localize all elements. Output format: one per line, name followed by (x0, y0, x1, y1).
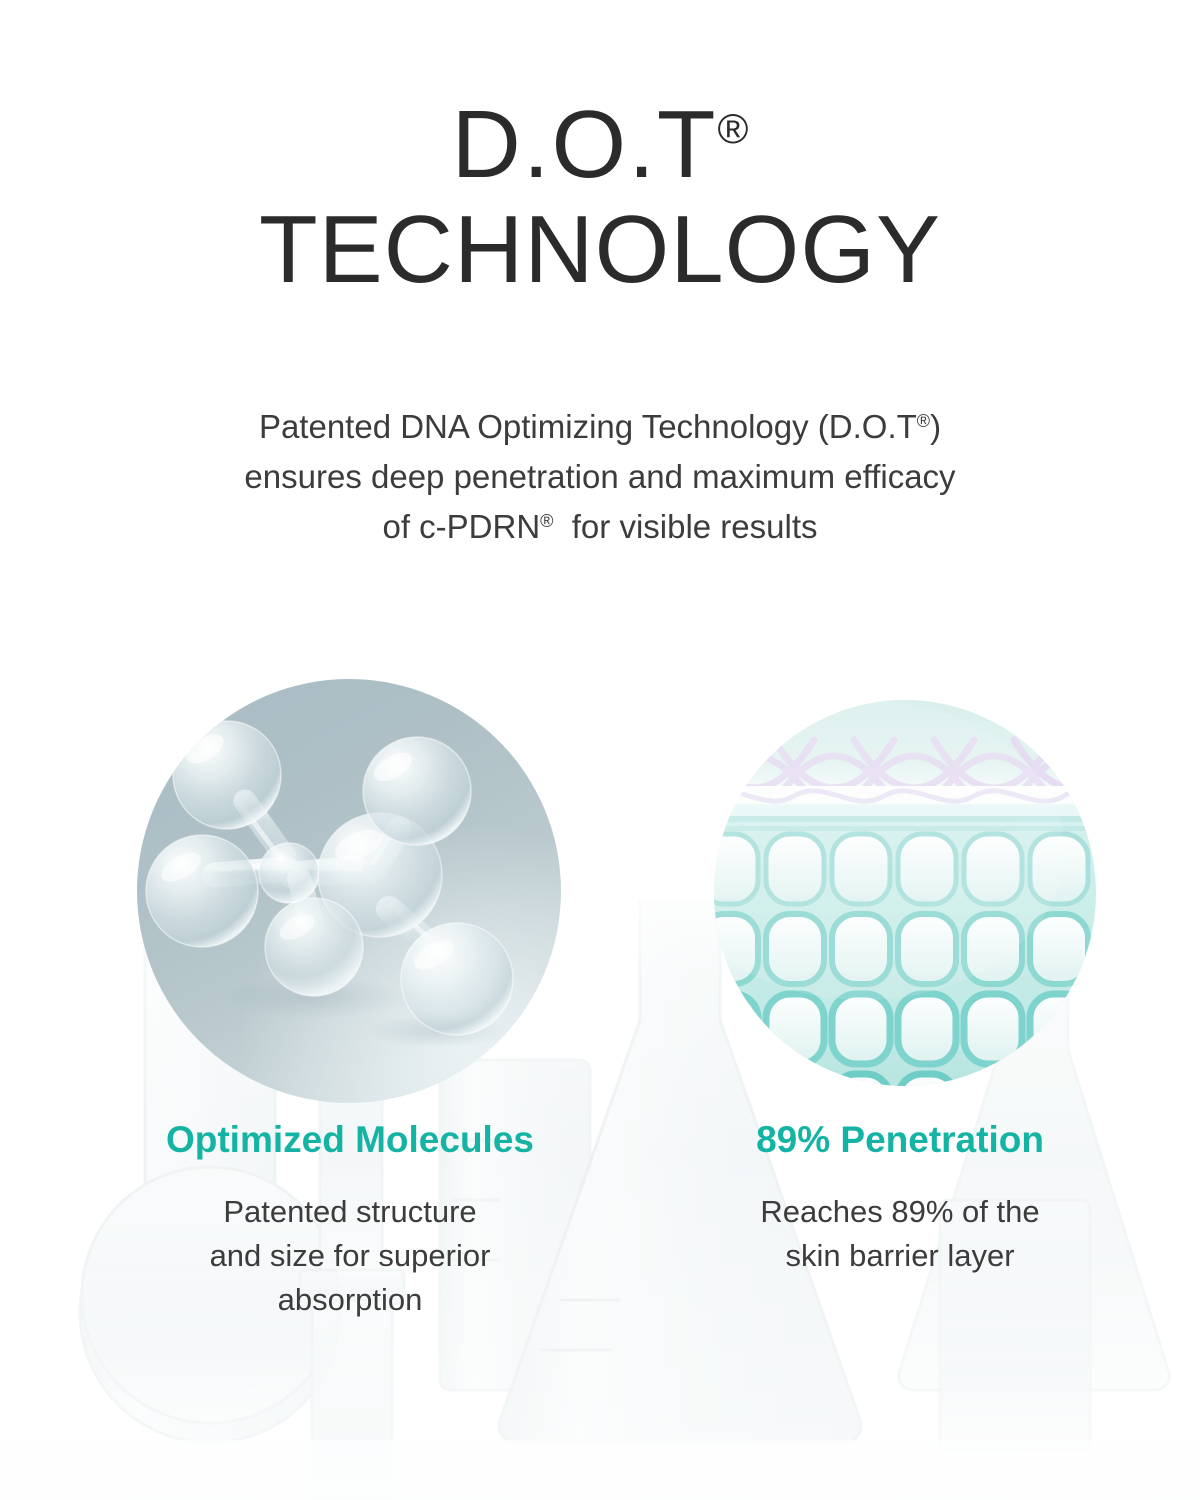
feature-caption-optimized-molecules: Optimized Molecules Patented structure a… (60, 1118, 640, 1322)
dot-technology-infographic: D.O.T® TECHNOLOGY Patented DNA Optimizin… (0, 0, 1200, 1500)
page-title: D.O.T® TECHNOLOGY (0, 96, 1200, 301)
subtitle-line-3: of c-PDRN® for visible results (0, 502, 1200, 552)
subtitle-line-2: ensures deep penetration and maximum eff… (0, 452, 1200, 502)
skin-penetration-image (714, 700, 1096, 1086)
subtitle-line-3-a: of c-PDRN (382, 508, 540, 545)
title-dot-line: D.O.T® (0, 96, 1200, 194)
feature-body-line-3: absorption (60, 1278, 640, 1322)
feature-body-line-1: Reaches 89% of the (640, 1190, 1160, 1234)
subtitle-line-3-b: for visible results (553, 508, 817, 545)
subtitle-line-1: Patented DNA Optimizing Technology (D.O.… (0, 402, 1200, 452)
registered-trademark-icon: ® (540, 511, 553, 531)
feature-body-line-2: skin barrier layer (640, 1234, 1160, 1278)
title-dot-text: D.O.T (452, 91, 718, 198)
feature-body-line-1: Patented structure (60, 1190, 640, 1234)
registered-trademark-icon: ® (917, 411, 930, 431)
title-technology-line: TECHNOLOGY (0, 200, 1200, 301)
registered-trademark-icon: ® (718, 105, 749, 152)
feature-caption-penetration: 89% Penetration Reaches 89% of the skin … (640, 1118, 1160, 1278)
subtitle-line-1-b: ) (930, 408, 941, 445)
feature-body: Patented structure and size for superior… (60, 1190, 640, 1322)
feature-heading: Optimized Molecules (60, 1118, 640, 1162)
feature-heading: 89% Penetration (640, 1118, 1160, 1162)
feature-body: Reaches 89% of the skin barrier layer (640, 1190, 1160, 1278)
subtitle-line-1-a: Patented DNA Optimizing Technology (D.O.… (259, 408, 917, 445)
subtitle: Patented DNA Optimizing Technology (D.O.… (0, 402, 1200, 552)
optimized-molecules-image (137, 679, 561, 1103)
feature-body-line-2: and size for superior (60, 1234, 640, 1278)
